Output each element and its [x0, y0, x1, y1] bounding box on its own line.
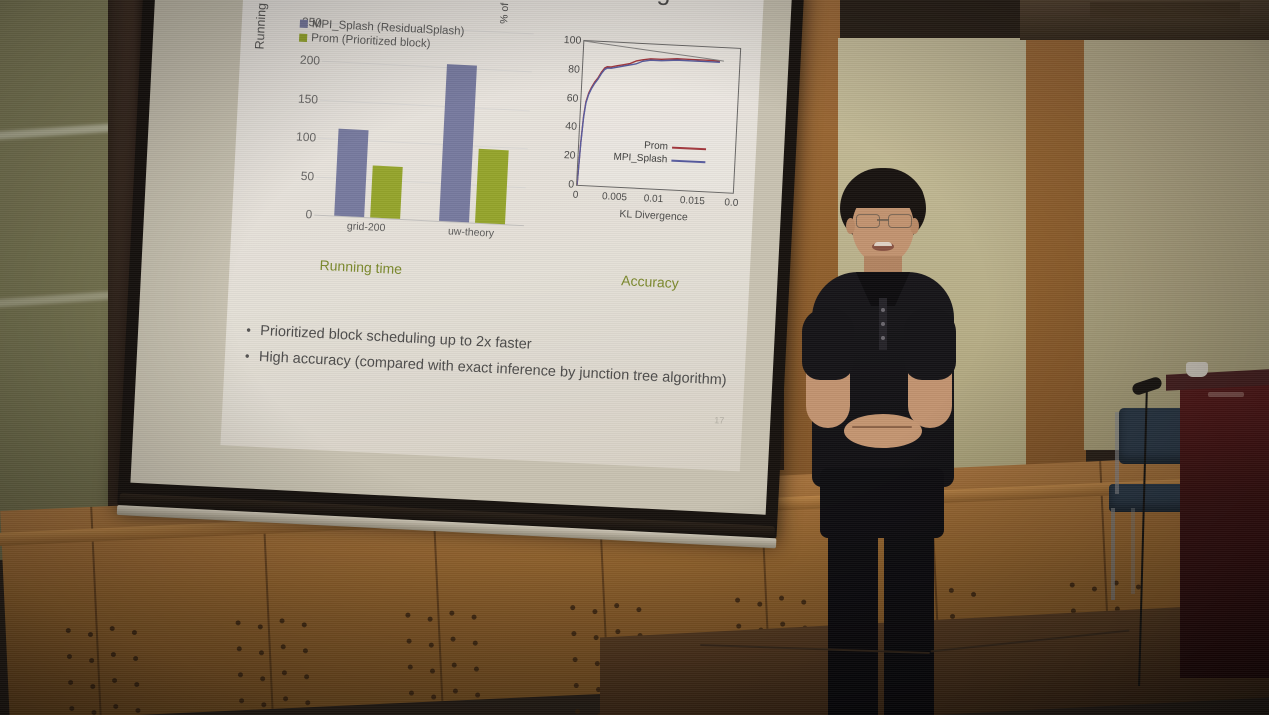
cup-on-podium	[1186, 362, 1208, 377]
glasses-bridge	[877, 219, 889, 221]
panel-perforation	[69, 706, 74, 711]
slide-content: State-of-the-art Scheduling Running time…	[220, 0, 763, 471]
panel-perforation	[594, 635, 599, 640]
panel-perforation	[570, 605, 575, 610]
bar-chart-gridline	[320, 100, 530, 112]
panel-perforation	[238, 672, 243, 677]
panel-perforation	[409, 690, 414, 695]
presenter-teeth	[874, 242, 892, 246]
line-chart-curves	[577, 41, 740, 193]
panel-perforation	[258, 624, 263, 629]
panel-perforation	[134, 682, 139, 687]
panel-perforation	[735, 598, 740, 603]
panel-perforation	[572, 657, 577, 662]
slide-page-number: 17	[714, 415, 725, 425]
bar-chart-y-tick: 150	[298, 91, 319, 106]
line-chart-y-tick: 40	[565, 121, 577, 134]
legend-line-icon	[671, 159, 705, 163]
line-chart-series-prom	[577, 54, 720, 192]
presenter	[760, 168, 990, 715]
panel-perforation	[449, 611, 454, 616]
panel-perforation	[135, 708, 140, 713]
panel-perforation	[261, 702, 266, 707]
panel-perforation	[282, 670, 287, 675]
panel-perforation	[428, 616, 433, 621]
conference-room-scene: State-of-the-art Scheduling Running time…	[0, 0, 1269, 715]
bar-chart-plot-area	[314, 23, 533, 226]
panel-perforation	[113, 704, 118, 709]
panel-perforation	[259, 650, 264, 655]
panel-perforation	[283, 696, 288, 701]
bar-chart-bar	[475, 149, 509, 224]
panel-perforation	[405, 612, 410, 617]
panel-perforation	[111, 652, 116, 657]
panel-perforation	[132, 630, 137, 635]
projection-screen: State-of-the-art Scheduling Running time…	[115, 0, 805, 578]
panel-perforation	[66, 628, 71, 633]
panel-perforation	[1092, 586, 1097, 591]
line-chart-plot-area	[576, 40, 741, 194]
panel-perforation	[736, 624, 741, 629]
slide-bullet-list: •Prioritized block scheduling up to 2x f…	[244, 321, 746, 397]
line-chart-x-tick: 0.0	[724, 197, 738, 209]
panel-perforation	[452, 662, 457, 667]
line-chart-legend: PromMPI_Splash	[613, 138, 706, 169]
glasses-lens-right	[888, 214, 912, 228]
panel-perforation	[260, 676, 265, 681]
line-chart-x-tick: 0.015	[680, 195, 706, 207]
chair-leg-front-left	[1111, 508, 1115, 600]
bar-chart-y-tick: 100	[296, 130, 317, 145]
bullet-marker-icon: •	[245, 347, 260, 365]
line-chart-legend-label: Prom	[644, 140, 668, 152]
legend-swatch-icon	[300, 20, 308, 28]
panel-perforation	[112, 678, 117, 683]
panel-perforation	[473, 640, 478, 645]
line-chart-x-tick: 0	[572, 190, 578, 201]
bar-chart-bar	[334, 129, 368, 217]
bar-chart-y-axis-label: Running time (s)	[252, 0, 272, 64]
bar-chart-y-ticks: 050100150200250	[272, 21, 322, 215]
presenter-hands	[844, 414, 922, 448]
line-chart-y-tick: 80	[568, 63, 580, 76]
panel-perforation	[431, 694, 436, 699]
panel-perforation	[305, 700, 310, 705]
panel-perforation	[636, 607, 641, 612]
podium-trim-slot	[1208, 392, 1244, 397]
panel-perforation	[571, 631, 576, 636]
presenter-sleeve-right	[904, 308, 956, 380]
line-chart-y-tick: 60	[566, 92, 578, 105]
bar-chart-gridline	[322, 61, 532, 73]
line-chart-x-tick: 0.01	[643, 193, 663, 205]
shirt-button-2	[881, 322, 885, 326]
bar-chart-y-tick: 200	[300, 53, 321, 68]
panel-perforation	[453, 688, 458, 693]
bar-chart-category-label: uw-theory	[448, 225, 495, 239]
panel-perforation	[406, 638, 411, 643]
chair-frame-left	[1115, 412, 1119, 494]
panel-perforation	[592, 609, 597, 614]
panel-perforation	[304, 674, 309, 679]
panel-perforation	[450, 636, 455, 641]
presenter-ear-left	[846, 218, 855, 234]
presenter-hand-crease	[852, 426, 912, 428]
running-time-bar-chart: Running time (s) 050100150200250 grid-20…	[249, 20, 540, 249]
panel-perforation	[90, 684, 95, 689]
bar-chart-bar	[370, 165, 403, 219]
bar-chart-category-label: grid-200	[347, 220, 386, 234]
line-chart-y-tick: 20	[564, 149, 576, 162]
panel-perforation	[429, 642, 434, 647]
presenter-sleeve-left	[802, 308, 854, 380]
panel-perforation	[235, 620, 240, 625]
bar-chart-bar	[439, 64, 477, 223]
panel-perforation	[279, 618, 284, 623]
legend-line-icon	[672, 146, 706, 150]
podium	[1180, 378, 1269, 678]
panel-perforation	[281, 644, 286, 649]
bar-chart-y-tick: 50	[300, 168, 314, 183]
panel-perforation	[574, 683, 579, 688]
panel-perforation	[430, 668, 435, 673]
panel-perforation	[133, 656, 138, 661]
legend-swatch-icon	[299, 34, 307, 42]
panel-perforation	[614, 603, 619, 608]
panel-perforation	[302, 622, 307, 627]
panel-perforation	[237, 646, 242, 651]
panel-perforation	[110, 626, 115, 631]
line-chart-series-envelope	[584, 41, 725, 61]
line-chart-x-tick: 0.005	[602, 191, 628, 203]
panel-perforation	[89, 658, 94, 663]
chair-leg-back-left	[1131, 508, 1135, 594]
glasses-lens-left	[856, 214, 880, 228]
panel-perforation	[68, 680, 73, 685]
accuracy-caption: Accuracy	[621, 272, 679, 291]
panel-perforation	[474, 666, 479, 671]
bar-chart-y-tick: 0	[305, 207, 312, 221]
panel-perforation	[303, 648, 308, 653]
panel-perforation	[1070, 582, 1075, 587]
panel-perforation	[88, 632, 93, 637]
panel-perforation	[67, 654, 72, 659]
panel-perforation	[615, 629, 620, 634]
line-chart-legend-label: MPI_Splash	[613, 152, 667, 166]
shirt-button-3	[881, 336, 885, 340]
accuracy-line-chart: % of variable vertices 020406080100 00.0…	[541, 38, 751, 248]
ceiling-vent	[1090, 2, 1240, 18]
slide-title: State-of-the-art Scheduling	[304, 0, 735, 10]
presenter-fringe	[844, 180, 924, 208]
panel-perforation	[575, 709, 580, 714]
presenter-leg-right	[884, 528, 934, 715]
panel-perforation	[408, 664, 413, 669]
bullet-marker-icon: •	[246, 321, 261, 339]
panel-perforation	[239, 698, 244, 703]
running-time-caption: Running time	[319, 257, 402, 277]
panel-perforation	[475, 692, 480, 697]
panel-perforation	[91, 710, 96, 715]
line-chart-y-tick: 100	[564, 34, 582, 47]
presenter-leg-left	[828, 528, 878, 715]
panel-perforation	[471, 614, 476, 619]
shirt-button-1	[881, 308, 885, 312]
screen-surface: State-of-the-art Scheduling Running time…	[220, 0, 763, 471]
